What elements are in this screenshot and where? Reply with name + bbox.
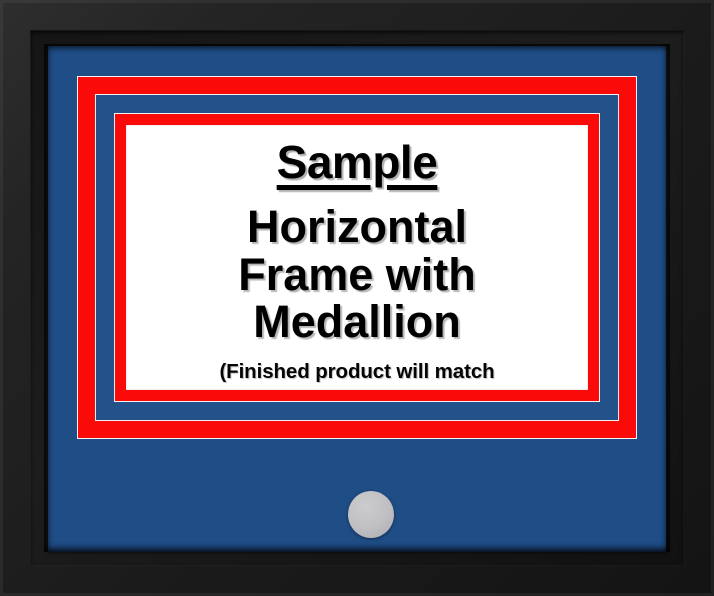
mat-outer-blue: Sample Horizontal Frame with Medallion (… (48, 46, 666, 552)
headline-line-2: Frame with (238, 251, 476, 299)
mat-band-red-inner: Sample Horizontal Frame with Medallion (… (114, 113, 600, 402)
sample-title: Sample (277, 139, 438, 187)
disclaimer-text: (Finished product will match your team’s… (196, 359, 518, 390)
framed-sample-image: Sample Horizontal Frame with Medallion (… (0, 0, 714, 596)
disclaimer-line-2: your team’s colors and medallion (196, 386, 518, 390)
sample-sheet: Sample Horizontal Frame with Medallion (… (126, 125, 588, 390)
photo-opening: Sample Horizontal Frame with Medallion (… (126, 125, 588, 390)
team-medallion (348, 491, 394, 538)
mat-band-blue-inner: Sample Horizontal Frame with Medallion (… (95, 94, 619, 421)
mat-band-red-outer: Sample Horizontal Frame with Medallion (… (77, 76, 637, 439)
disclaimer-line-1: (Finished product will match (196, 359, 518, 386)
headline-line-3: Medallion (253, 298, 461, 346)
headline-line-1: Horizontal (247, 203, 467, 251)
